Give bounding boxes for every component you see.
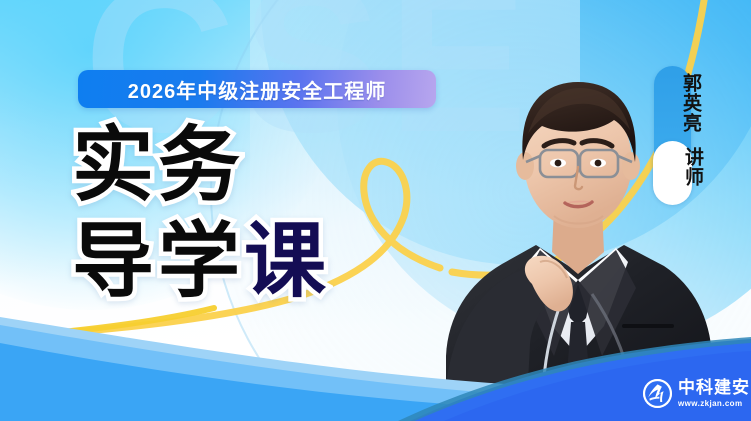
instructor-role-badge: 讲师 <box>653 141 692 205</box>
brand-name: 中科建安 <box>678 379 750 396</box>
title-line-secondary: 导学课 <box>72 222 330 302</box>
brand-logo[interactable]: 中科建安 www.zkjan.com <box>643 379 750 408</box>
brand-url: www.zkjan.com <box>678 400 750 408</box>
course-badge[interactable]: 2026年中级注册安全工程师 <box>78 70 436 108</box>
title-secondary-accent: 课 <box>244 216 330 307</box>
zkjan-logo-icon <box>643 379 672 408</box>
page-title: 实务 导学课 <box>72 126 330 303</box>
brand-text-block: 中科建安 www.zkjan.com <box>678 379 750 408</box>
instructor-name: 郭英亮 <box>663 73 700 133</box>
course-poster: CSE <box>0 0 751 421</box>
instructor-role: 讲师 <box>663 147 702 187</box>
course-badge-label: 2026年中级注册安全工程师 <box>128 75 387 104</box>
title-line-primary: 实务 <box>72 126 330 206</box>
title-secondary-main: 导学 <box>72 216 244 307</box>
